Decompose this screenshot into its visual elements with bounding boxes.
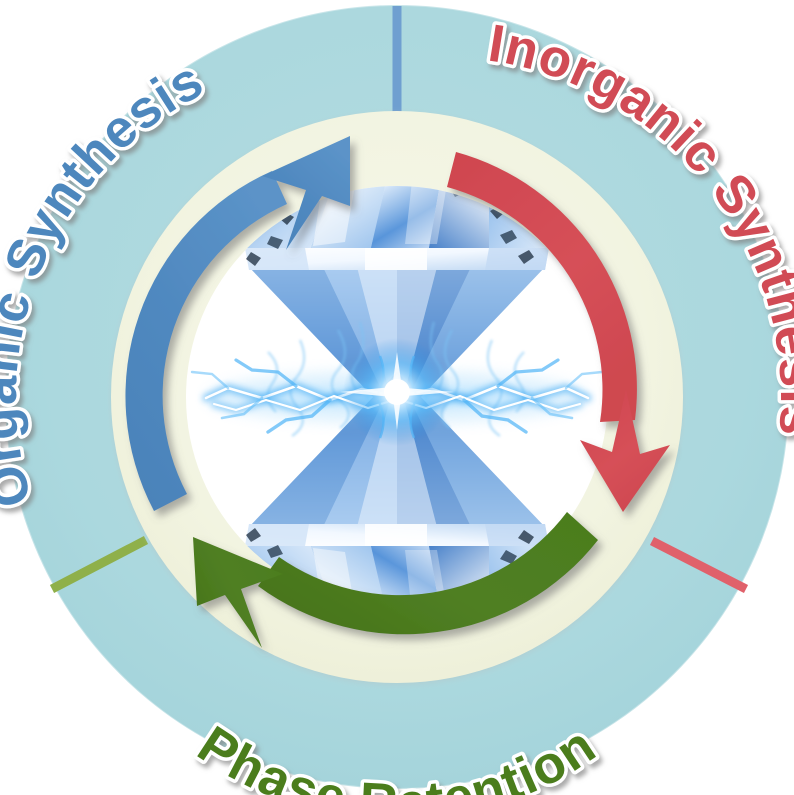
figure-canvas: Organic Synthesis Organic Synthesis Inor… [0,0,794,795]
synthesis-cycle-svg: Organic Synthesis Organic Synthesis Inor… [0,0,794,795]
